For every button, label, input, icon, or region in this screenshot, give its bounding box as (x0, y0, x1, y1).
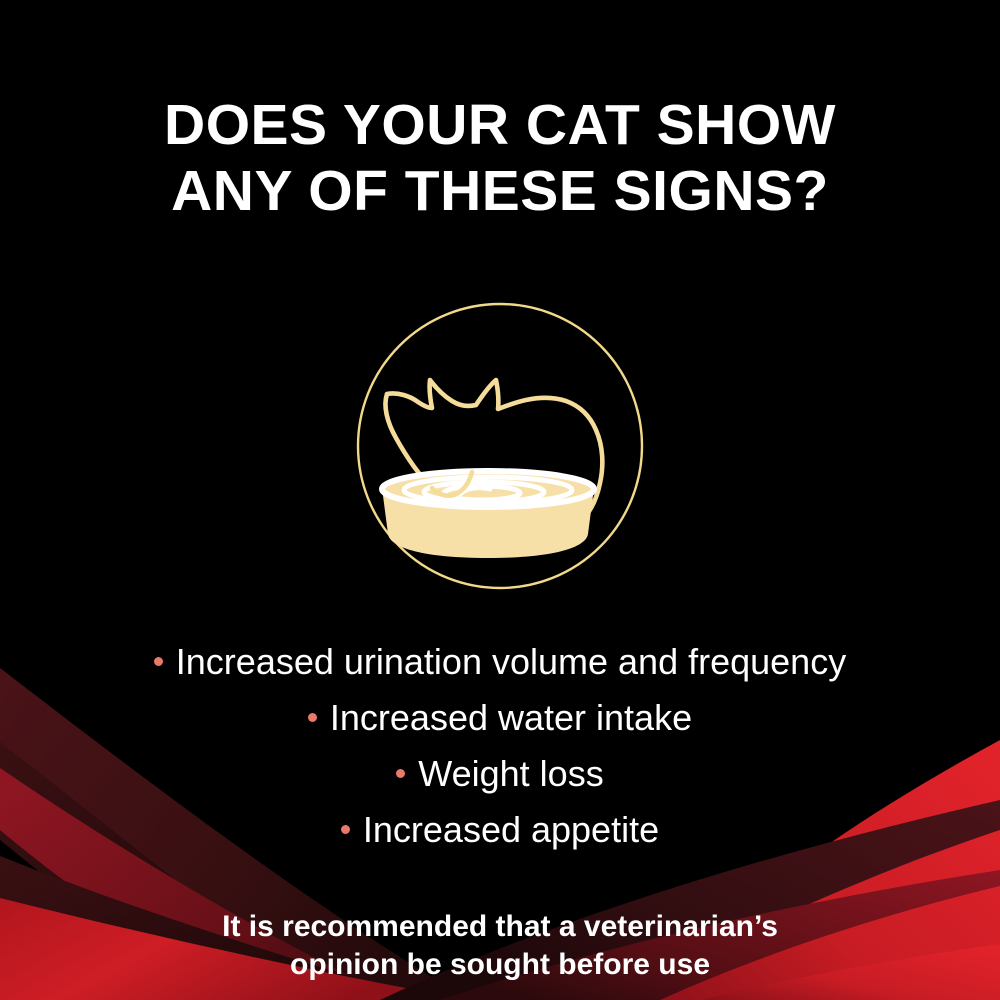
headline-line-2: ANY OF THESE SIGNS? (0, 158, 1000, 224)
list-item: Weight loss (0, 746, 1000, 802)
bullet-dot-icon (154, 657, 163, 666)
poster-canvas: DOES YOUR CAT SHOW ANY OF THESE SIGNS? (0, 0, 1000, 1000)
bullet-dot-icon (396, 769, 405, 778)
cat-eating-from-bowl-icon (356, 302, 644, 590)
footer-note: It is recommended that a veterinarian’s … (0, 908, 1000, 984)
list-item-label: Weight loss (418, 753, 603, 794)
food-bowl (382, 471, 594, 558)
bullet-dot-icon (341, 825, 350, 834)
list-item-label: Increased water intake (330, 697, 692, 738)
symptom-list: Increased urination volume and frequency… (0, 634, 1000, 858)
footer-line-1: It is recommended that a veterinarian’s (0, 908, 1000, 946)
list-item: Increased water intake (0, 690, 1000, 746)
list-item: Increased appetite (0, 802, 1000, 858)
list-item-label: Increased appetite (363, 809, 659, 850)
headline-line-1: DOES YOUR CAT SHOW (0, 92, 1000, 158)
bullet-dot-icon (308, 713, 317, 722)
divider-top (175, 43, 825, 46)
footer-line-2: opinion be sought before use (0, 946, 1000, 984)
page-title: DOES YOUR CAT SHOW ANY OF THESE SIGNS? (0, 92, 1000, 224)
divider-bottom (175, 887, 825, 890)
list-item-label: Increased urination volume and frequency (176, 641, 846, 682)
list-item: Increased urination volume and frequency (0, 634, 1000, 690)
